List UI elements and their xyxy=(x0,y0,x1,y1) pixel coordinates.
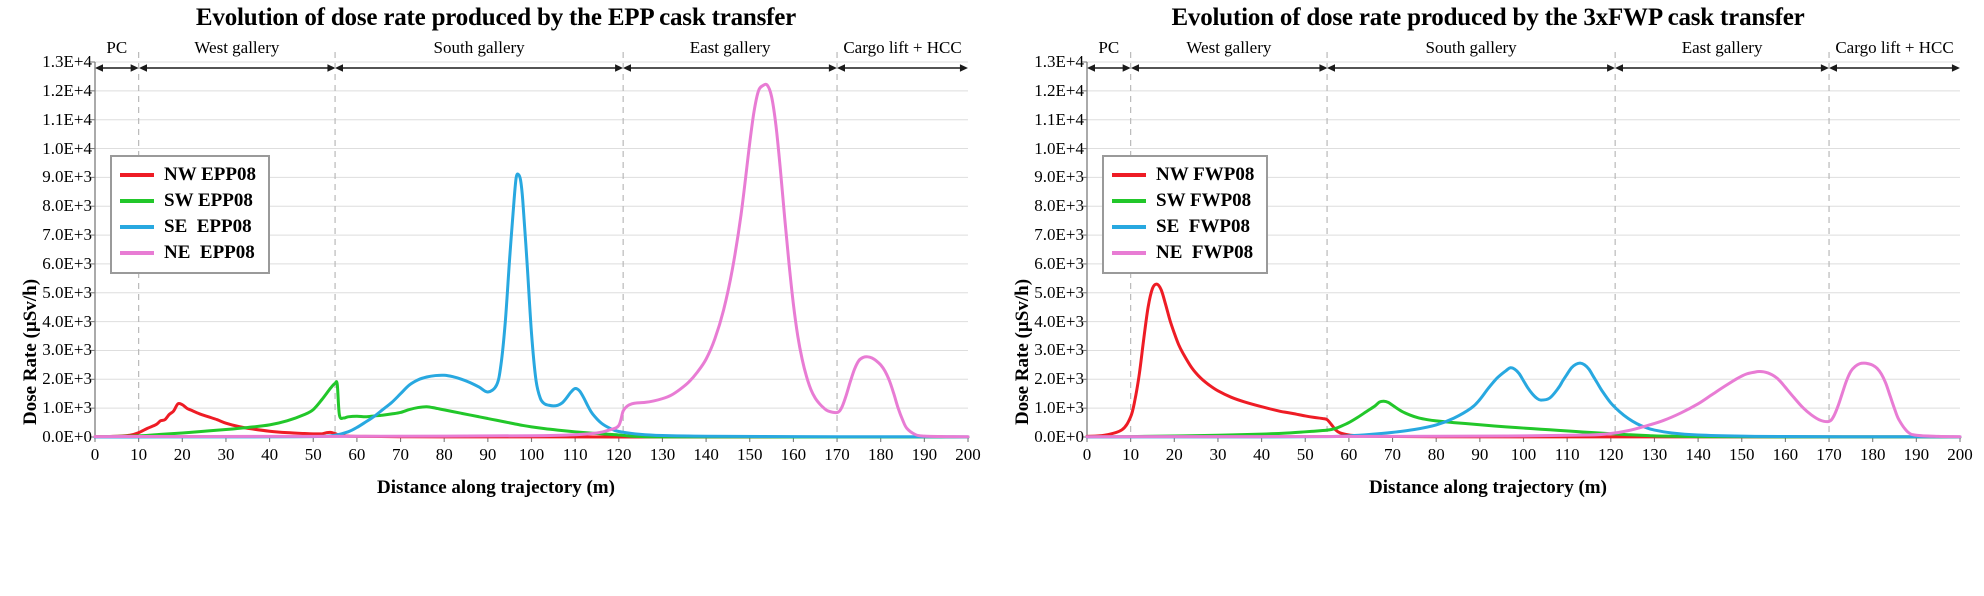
chart-panel-fwp: Evolution of dose rate produced by the 3… xyxy=(992,0,1984,596)
x-tick-label: 180 xyxy=(868,445,894,465)
legend-item[interactable]: SW FWP08 xyxy=(1112,188,1254,214)
x-tick-label: 20 xyxy=(1166,445,1183,465)
x-tick-label: 30 xyxy=(1209,445,1226,465)
legend-label: NE FWP08 xyxy=(1156,242,1253,264)
x-tick-label: 200 xyxy=(1947,445,1973,465)
x-tick-label: 40 xyxy=(1253,445,1270,465)
y-tick-label: 1.1E+4 xyxy=(42,110,92,130)
x-tick-label: 70 xyxy=(392,445,409,465)
x-tick-label: 180 xyxy=(1860,445,1886,465)
plot-area xyxy=(0,0,992,596)
x-tick-label: 60 xyxy=(1340,445,1357,465)
x-tick-label: 80 xyxy=(436,445,453,465)
y-tick-label: 2.0E+3 xyxy=(42,369,92,389)
y-tick-label: 9.0E+3 xyxy=(42,167,92,187)
y-tick-label: 6.0E+3 xyxy=(1034,254,1084,274)
x-tick-label: 110 xyxy=(1555,445,1580,465)
legend-item[interactable]: NE FWP08 xyxy=(1112,240,1254,266)
y-tick-label: 2.0E+3 xyxy=(1034,369,1084,389)
x-tick-label: 90 xyxy=(1471,445,1488,465)
y-tick-label: 1.3E+4 xyxy=(1034,52,1084,72)
legend-label: SW EPP08 xyxy=(164,190,253,212)
x-tick-label: 50 xyxy=(1297,445,1314,465)
y-tick-label: 0.0E+0 xyxy=(1034,427,1084,447)
chart-panel-epp: Evolution of dose rate produced by the E… xyxy=(0,0,992,596)
x-tick-label: 10 xyxy=(130,445,147,465)
legend-label: SE FWP08 xyxy=(1156,216,1250,238)
legend-color-swatch xyxy=(120,225,154,229)
y-tick-label: 5.0E+3 xyxy=(1034,283,1084,303)
legend-color-swatch xyxy=(1112,199,1146,203)
y-tick-label: 1.0E+3 xyxy=(42,398,92,418)
y-tick-label: 7.0E+3 xyxy=(1034,225,1084,245)
legend-color-swatch xyxy=(120,173,154,177)
x-tick-label: 160 xyxy=(1773,445,1799,465)
legend-color-swatch xyxy=(120,251,154,255)
x-tick-label: 20 xyxy=(174,445,191,465)
x-tick-label: 0 xyxy=(91,445,100,465)
legend-color-swatch xyxy=(1112,251,1146,255)
y-tick-label: 1.1E+4 xyxy=(1034,110,1084,130)
y-tick-label: 1.0E+3 xyxy=(1034,398,1084,418)
figure-root: Evolution of dose rate produced by the E… xyxy=(0,0,1984,596)
x-axis-title: Distance along trajectory (m) xyxy=(0,477,992,499)
x-tick-label: 130 xyxy=(1642,445,1668,465)
x-tick-label: 100 xyxy=(519,445,545,465)
x-tick-label: 0 xyxy=(1083,445,1092,465)
legend-label: NW EPP08 xyxy=(164,164,256,186)
x-tick-label: 140 xyxy=(693,445,719,465)
x-tick-label: 150 xyxy=(1729,445,1755,465)
plot-area xyxy=(992,0,1984,596)
x-tick-label: 150 xyxy=(737,445,763,465)
legend-label: NW FWP08 xyxy=(1156,164,1254,186)
y-tick-label: 1.2E+4 xyxy=(42,81,92,101)
y-tick-label: 1.3E+4 xyxy=(42,52,92,72)
x-tick-label: 10 xyxy=(1122,445,1139,465)
legend-item[interactable]: NW FWP08 xyxy=(1112,162,1254,188)
x-tick-label: 80 xyxy=(1428,445,1445,465)
x-tick-label: 100 xyxy=(1511,445,1537,465)
chart-legend: NW EPP08SW EPP08SE EPP08NE EPP08 xyxy=(110,155,270,274)
y-tick-label: 6.0E+3 xyxy=(42,254,92,274)
chart-legend: NW FWP08SW FWP08SE FWP08NE FWP08 xyxy=(1102,155,1268,274)
y-tick-label: 5.0E+3 xyxy=(42,283,92,303)
legend-item[interactable]: SE EPP08 xyxy=(120,214,256,240)
legend-item[interactable]: SE FWP08 xyxy=(1112,214,1254,240)
y-tick-label: 4.0E+3 xyxy=(1034,312,1084,332)
legend-color-swatch xyxy=(1112,173,1146,177)
x-tick-label: 170 xyxy=(824,445,850,465)
x-tick-label: 120 xyxy=(606,445,632,465)
x-tick-label: 110 xyxy=(563,445,588,465)
x-tick-label: 190 xyxy=(912,445,938,465)
y-tick-label: 1.0E+4 xyxy=(1034,139,1084,159)
y-axis-title: Dose Rate (µSv/h) xyxy=(20,395,42,425)
x-tick-label: 30 xyxy=(217,445,234,465)
x-tick-label: 50 xyxy=(305,445,322,465)
y-axis-title: Dose Rate (µSv/h) xyxy=(1012,395,1034,425)
y-tick-label: 8.0E+3 xyxy=(1034,196,1084,216)
legend-color-swatch xyxy=(120,199,154,203)
legend-label: NE EPP08 xyxy=(164,242,255,264)
x-tick-label: 160 xyxy=(781,445,807,465)
legend-item[interactable]: NE EPP08 xyxy=(120,240,256,266)
x-tick-label: 40 xyxy=(261,445,278,465)
y-tick-label: 0.0E+0 xyxy=(42,427,92,447)
y-tick-label: 3.0E+3 xyxy=(42,340,92,360)
x-tick-label: 170 xyxy=(1816,445,1842,465)
x-tick-label: 190 xyxy=(1904,445,1930,465)
x-tick-label: 130 xyxy=(650,445,676,465)
y-tick-label: 8.0E+3 xyxy=(42,196,92,216)
legend-color-swatch xyxy=(1112,225,1146,229)
x-tick-label: 140 xyxy=(1685,445,1711,465)
legend-item[interactable]: NW EPP08 xyxy=(120,162,256,188)
x-tick-label: 120 xyxy=(1598,445,1624,465)
y-tick-label: 9.0E+3 xyxy=(1034,167,1084,187)
x-tick-label: 70 xyxy=(1384,445,1401,465)
y-tick-label: 4.0E+3 xyxy=(42,312,92,332)
legend-item[interactable]: SW EPP08 xyxy=(120,188,256,214)
y-tick-label: 1.2E+4 xyxy=(1034,81,1084,101)
legend-label: SE EPP08 xyxy=(164,216,252,238)
x-tick-label: 60 xyxy=(348,445,365,465)
y-tick-label: 1.0E+4 xyxy=(42,139,92,159)
legend-label: SW FWP08 xyxy=(1156,190,1251,212)
y-tick-label: 3.0E+3 xyxy=(1034,340,1084,360)
x-tick-label: 90 xyxy=(479,445,496,465)
y-tick-label: 7.0E+3 xyxy=(42,225,92,245)
x-axis-title: Distance along trajectory (m) xyxy=(992,477,1984,499)
x-tick-label: 200 xyxy=(955,445,981,465)
